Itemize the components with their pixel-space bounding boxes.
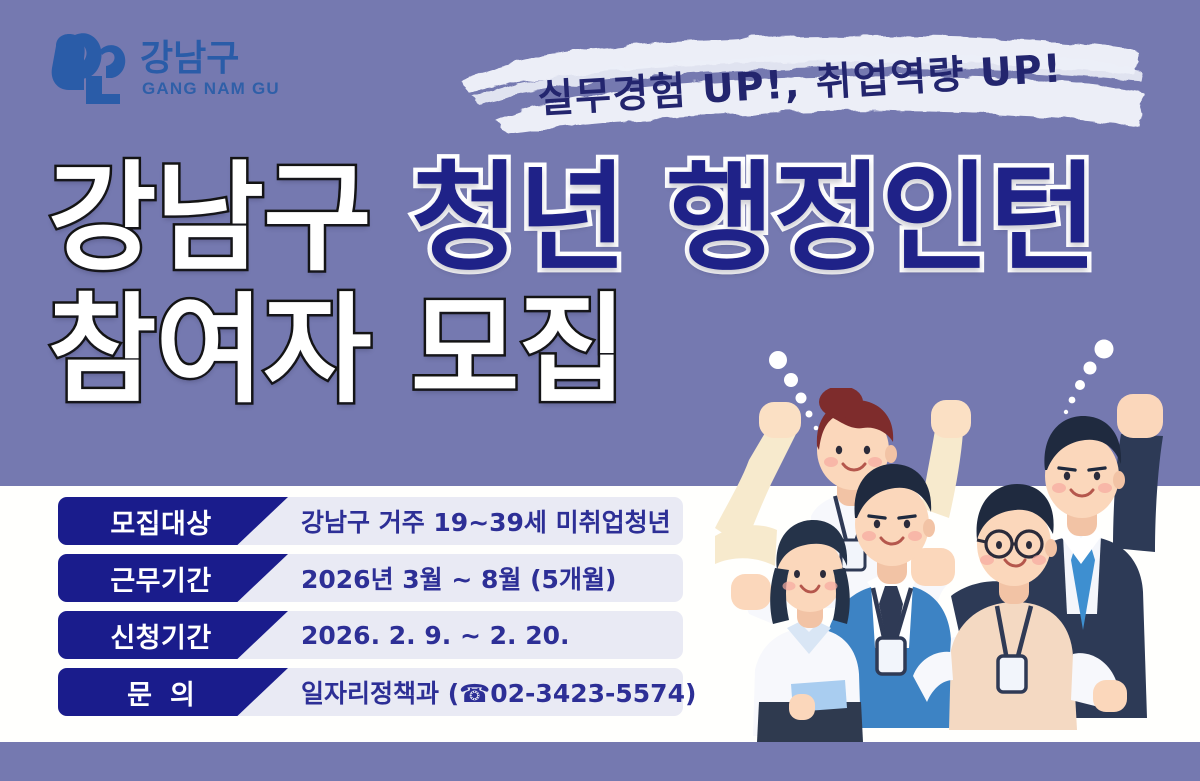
row-label-text: 모집대상 [72,502,250,541]
row-label-text: 신청기간 [72,616,250,655]
headline-line-1: 강남구 청년 행정인턴 [48,152,1168,284]
five-cheering-young-workers-illustration [715,388,1200,742]
headline-gangnam-gu: 강남구 [48,149,371,287]
info-table: 모집대상 강남구 거주 19~39세 미취업청년 근무기간 2026년 3월 ~… [58,497,683,725]
table-row: 근무기간 2026년 3월 ~ 8월 (5개월) [58,554,683,602]
gangnam-gu-logo: 강남구 GANG NAM GU [44,28,304,106]
table-row: 신청기간 2026. 2. 9. ~ 2. 20. [58,611,683,659]
headline-youth-intern: 청년 행정인턴 [411,149,1096,287]
table-row: 모집대상 강남구 거주 19~39세 미취업청년 [58,497,683,545]
background-band-bottom [0,742,1200,781]
logo-roman-name: GANG NAM GU [142,79,280,98]
row-value-application: 2026. 2. 9. ~ 2. 20. [301,611,570,659]
row-value-period: 2026년 3월 ~ 8월 (5개월) [301,554,616,602]
logo-korean-name: 강남구 [140,38,239,79]
row-label-text: 근무기간 [72,559,250,598]
headline-participant-recruit: 참여자 모집 [48,281,626,419]
row-label-text: 문의 [72,673,250,712]
poster-root: 강남구 GANG NAM GU 실무경험 UP!, 취업역량 UP! [0,0,1200,781]
brush-stroke-banner [455,22,1145,140]
table-row: 문의 일자리정책과 (☎02-3423-5574) [58,668,683,716]
row-value-target: 강남구 거주 19~39세 미취업청년 [301,497,671,545]
page-title: 강남구 청년 행정인턴 참여자 모집 [48,152,1168,416]
gangnam-gu-emblem-icon [52,33,126,104]
row-value-contact: 일자리정책과 (☎02-3423-5574) [301,668,696,716]
